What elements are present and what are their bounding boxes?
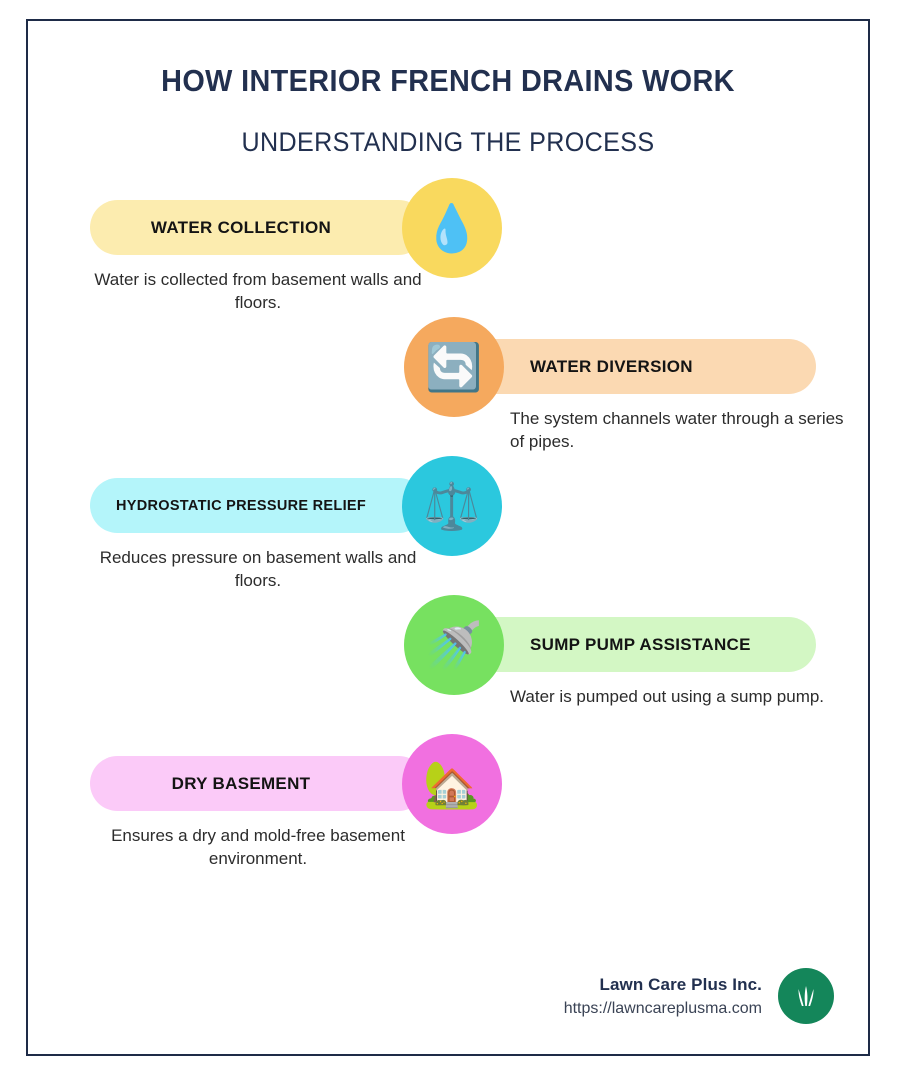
step-label: DRY BASEMENT (172, 774, 311, 794)
step-description: Ensures a dry and mold-free basement env… (88, 824, 428, 871)
page-subtitle: UNDERSTANDING THE PROCESS (57, 127, 838, 158)
step-item: DRY BASEMENT 🏡 Ensures a dry and mold-fr… (28, 756, 868, 895)
refresh-sync-icon: 🔄 (425, 344, 482, 390)
header: HOW INTERIOR FRENCH DRAINS WORK UNDERSTA… (28, 21, 868, 158)
footer: Lawn Care Plus Inc. https://lawncareplus… (564, 968, 834, 1024)
step-description: Water is pumped out using a sump pump. (510, 685, 850, 708)
faucet-icon: 🚿 (425, 622, 482, 668)
step-icon-circle: 💧 (402, 178, 502, 278)
steps-list: WATER COLLECTION 💧 Water is collected fr… (28, 200, 868, 895)
step-pill: DRY BASEMENT (90, 756, 426, 811)
step-icon-circle: 🚿 (404, 595, 504, 695)
brand-name: Lawn Care Plus Inc. (564, 975, 762, 995)
step-label: WATER COLLECTION (151, 218, 331, 238)
footer-text: Lawn Care Plus Inc. https://lawncareplus… (564, 975, 762, 1018)
poster-frame: HOW INTERIOR FRENCH DRAINS WORK UNDERSTA… (26, 19, 870, 1056)
step-pill: HYDROSTATIC PRESSURE RELIEF (90, 478, 426, 533)
page-title: HOW INTERIOR FRENCH DRAINS WORK (57, 63, 838, 99)
grass-logo-icon (778, 968, 834, 1024)
step-description: Water is collected from basement walls a… (88, 268, 428, 315)
step-icon-circle: 🏡 (402, 734, 502, 834)
droplet-icon: 💧 (423, 205, 480, 251)
step-label: HYDROSTATIC PRESSURE RELIEF (116, 498, 366, 514)
step-label: WATER DIVERSION (530, 357, 693, 377)
website-url[interactable]: https://lawncareplusma.com (564, 1000, 762, 1018)
step-icon-circle: ⚖️ (402, 456, 502, 556)
step-pill: WATER COLLECTION (90, 200, 426, 255)
step-icon-circle: 🔄 (404, 317, 504, 417)
step-description: The system channels water through a seri… (510, 407, 850, 454)
step-label: SUMP PUMP ASSISTANCE (530, 635, 751, 655)
house-with-garden-icon: 🏡 (423, 761, 480, 807)
balance-scales-icon: ⚖️ (423, 483, 480, 529)
step-description: Reduces pressure on basement walls and f… (88, 546, 428, 593)
